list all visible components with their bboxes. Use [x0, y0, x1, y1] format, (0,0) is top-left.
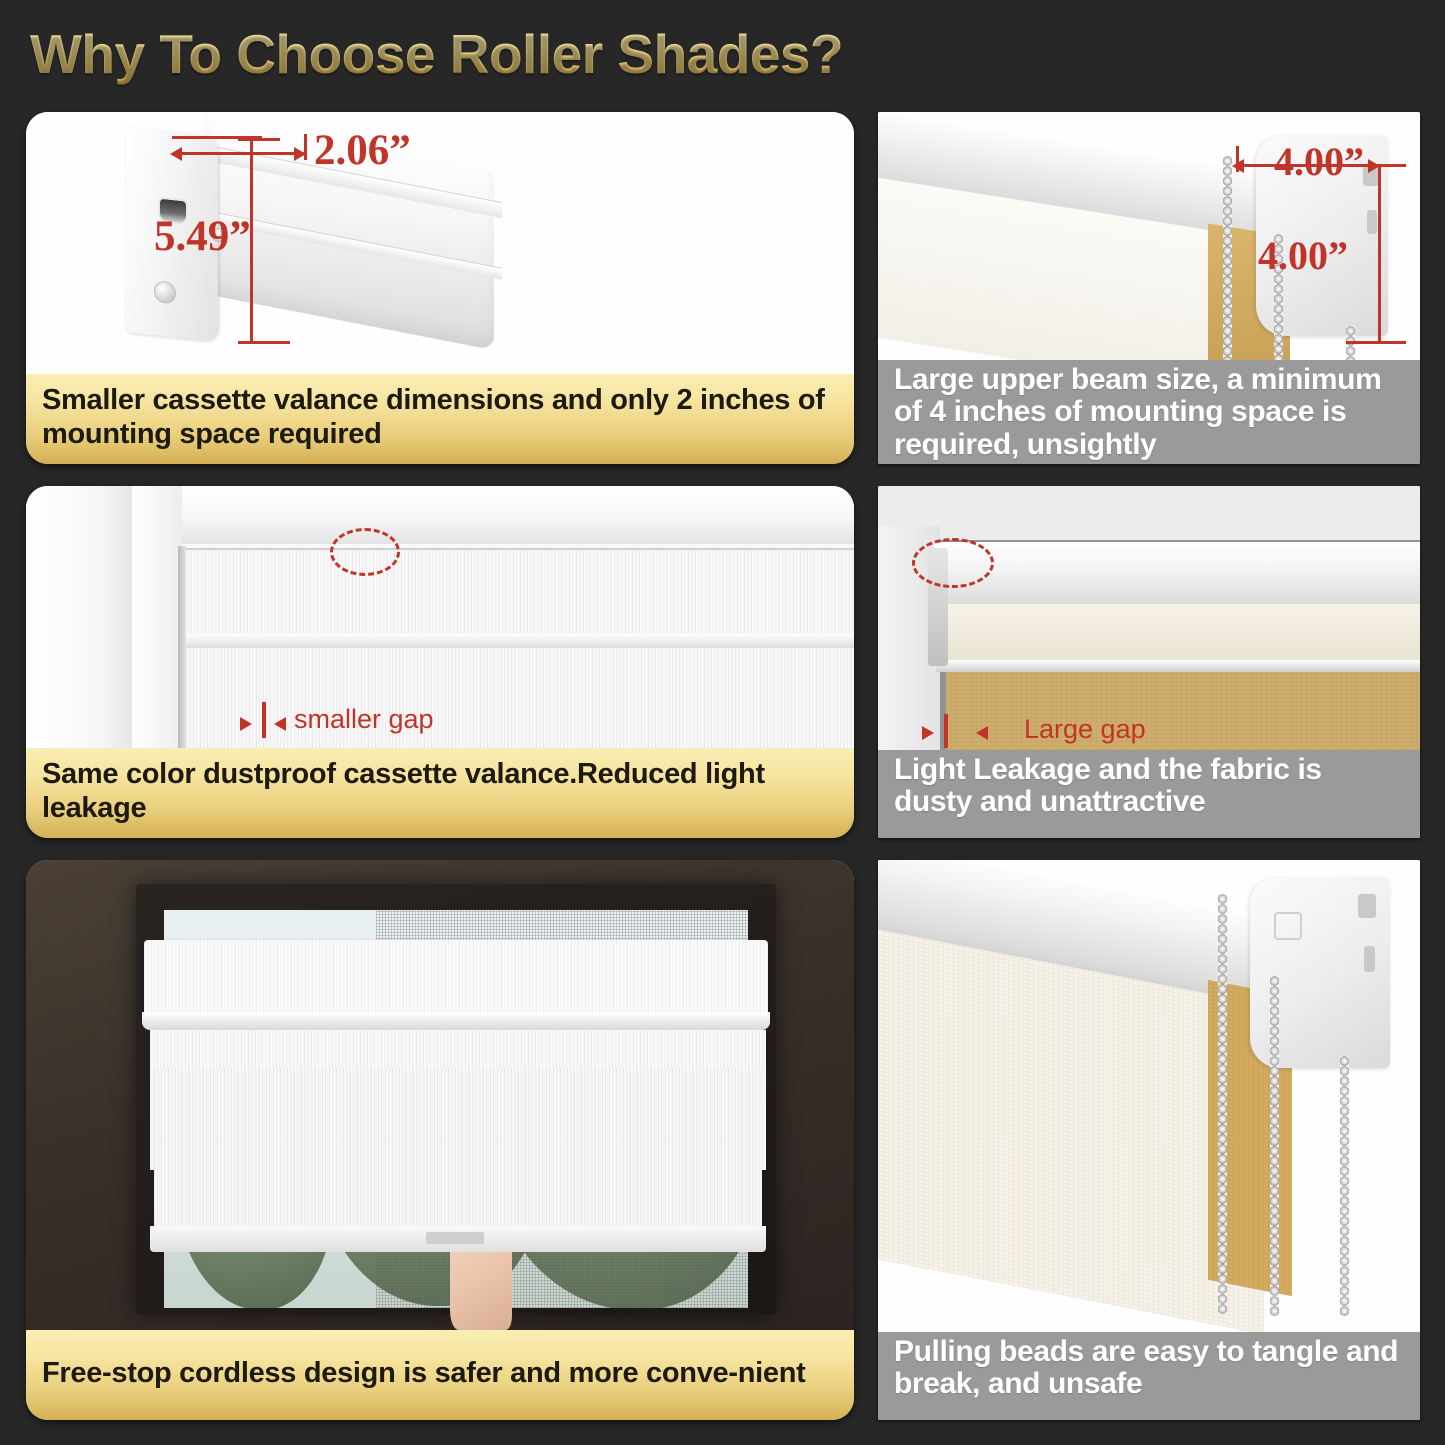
gap-arrow-right	[274, 717, 286, 731]
panel-2-photo: 4.00” 4.00”	[878, 112, 1420, 360]
gap-highlight-circle	[330, 528, 400, 576]
window-casing-inner	[132, 486, 182, 748]
window-header-trim	[182, 486, 854, 544]
width-dim-extension-right	[304, 134, 307, 160]
page-title: Why To Choose Roller Shades?	[30, 22, 843, 86]
beam-bottom-rail	[936, 660, 1420, 672]
gap-arrow-right	[976, 726, 988, 740]
beam-width-label: 4.00”	[1274, 138, 1364, 185]
bead-chain-left	[1223, 156, 1232, 360]
panel-6-photo	[878, 860, 1420, 1332]
bead-chain-left	[1218, 894, 1227, 1314]
gap-arrow-left	[240, 717, 252, 731]
panel-1-caption: Smaller cassette valance dimensions and …	[26, 374, 854, 464]
gap-arrow-left	[922, 726, 934, 740]
bottom-rail-grip	[426, 1232, 484, 1244]
infographic-page: Why To Choose Roller Shades? 2.06”	[0, 0, 1445, 1445]
gap-highlight-circle	[912, 538, 994, 588]
large-gap-label: Large gap	[1024, 714, 1146, 745]
beam-height-tick-bottom	[1346, 341, 1406, 344]
panel-6-caption: Pulling beads are easy to tangle and bre…	[878, 1332, 1420, 1420]
wall-upper-band	[878, 486, 1420, 540]
upper-beam	[934, 542, 1420, 608]
shade-left-edge	[178, 546, 186, 748]
panel-4-light-leakage: Large gap Light Leakage and the fabric i…	[878, 486, 1420, 838]
cassette-valance	[144, 940, 768, 1022]
beam-width-ext-left	[1236, 146, 1239, 172]
panel-1-smaller-cassette: 2.06” 5.49” Smaller cassette valance dim…	[26, 112, 854, 464]
smaller-gap-label: smaller gap	[294, 704, 434, 735]
panel-5-caption: Free-stop cordless design is safer and m…	[26, 1330, 854, 1420]
cassette-valance-front	[184, 548, 854, 636]
shade-fabric-panel	[186, 648, 854, 748]
gap-marker-bar	[944, 714, 948, 748]
height-dim-tick-top	[238, 138, 280, 141]
width-dim-arrow-left	[170, 147, 182, 161]
dusty-tan-fabric	[946, 672, 1420, 750]
panel-3-photo: smaller gap	[26, 486, 854, 748]
beam-height-tick-top	[1372, 164, 1406, 167]
height-dim-tick-bottom	[238, 341, 290, 344]
panel-5-photo	[26, 860, 854, 1330]
roller-shade-fabric-lower	[154, 1068, 762, 1228]
gap-marker-bar	[262, 702, 266, 738]
panel-2-large-beam: 4.00” 4.00” Large upper beam size, a min…	[878, 112, 1420, 464]
panel-4-caption: Light Leakage and the fabric is dusty an…	[878, 750, 1420, 838]
bracket-logo-mark	[1274, 912, 1302, 940]
panel-6-pulling-beads: Pulling beads are easy to tangle and bre…	[878, 860, 1420, 1420]
bead-chain-middle	[1270, 976, 1279, 1316]
width-dimension-label: 2.06”	[314, 126, 411, 175]
beam-height-line	[1378, 164, 1381, 344]
panel-3-caption: Same color dustproof cassette valance.Re…	[26, 748, 854, 838]
beam-fabric-band	[936, 604, 1420, 662]
height-dimension-label: 5.49”	[154, 212, 251, 261]
panel-1-photo: 2.06” 5.49”	[26, 112, 854, 374]
panel-2-caption: Large upper beam size, a minimum of 4 in…	[878, 360, 1420, 464]
valance-lip	[142, 1012, 770, 1030]
window-casing-left	[26, 486, 132, 748]
bead-chain-right	[1340, 1056, 1349, 1316]
width-dim-arrow-line	[176, 152, 306, 155]
bracket-notch-lower	[1367, 210, 1377, 234]
valance-bottom-lip	[184, 634, 854, 648]
bracket-notch-upper	[1358, 894, 1376, 918]
beam-height-label: 4.00”	[1258, 232, 1348, 279]
panel-5-cordless-design: Free-stop cordless design is safer and m…	[26, 860, 854, 1420]
panel-3-smaller-gap: smaller gap Same color dustproof cassett…	[26, 486, 854, 838]
end-cap-screw-lower	[154, 280, 176, 304]
bracket-notch-lower	[1364, 946, 1375, 972]
panel-4-photo: Large gap	[878, 486, 1420, 750]
